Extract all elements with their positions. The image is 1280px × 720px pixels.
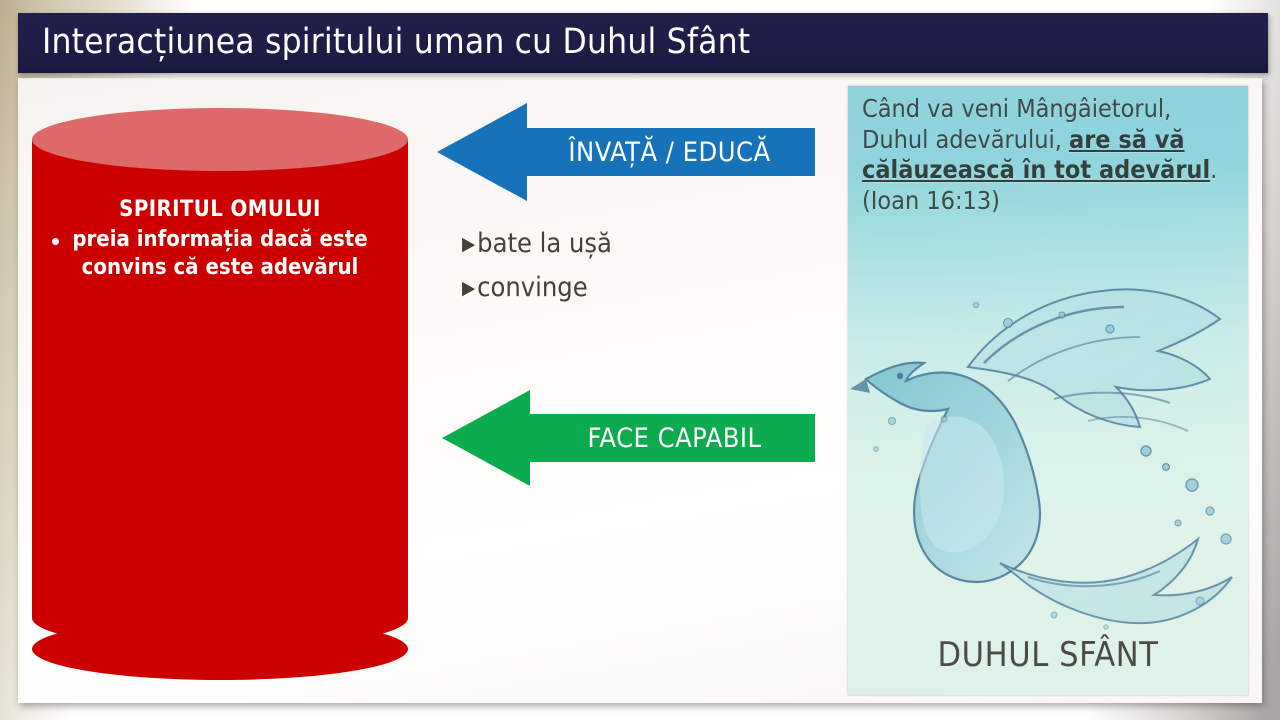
arrow-invata-educa-label: ÎNVAȚĂ / EDUCĂ — [532, 103, 807, 201]
verse-reference: (Ioan 16:13) — [862, 186, 1230, 217]
bible-verse-text: Când va veni Mângâietorul, Duhul adevăru… — [862, 94, 1230, 216]
photo-caption: DUHUL SFÂNT — [848, 635, 1248, 675]
verse-part-2: . — [1210, 155, 1217, 184]
page-title: Interacțiunea spiritului uman cu Duhul S… — [42, 25, 750, 60]
cylinder-text-block: SPIRITUL OMULUI preia informația dacă es… — [44, 196, 396, 282]
middle-bullet-list: ▶ bate la ușă ▶ convinge — [462, 222, 792, 309]
triangle-bullet-icon: ▶ — [462, 235, 475, 254]
arrow-face-capabil[interactable]: FACE CAPABIL — [442, 390, 815, 486]
arrow-invata-educa[interactable]: ÎNVAȚĂ / EDUCĂ — [437, 103, 815, 201]
cylinder-bullet-text: preia informația dacă este convins că es… — [54, 226, 386, 282]
list-item-label: bate la ușă — [477, 222, 612, 266]
cylinder-bullet-row: preia informația dacă este convins că es… — [44, 226, 396, 282]
list-item-label: convinge — [477, 266, 588, 310]
water-dove-icon — [848, 271, 1248, 651]
cylinder-heading: SPIRITUL OMULUI — [44, 196, 396, 224]
cylinder-top-ellipse — [32, 108, 408, 171]
spirit-cylinder: SPIRITUL OMULUI preia informația dacă es… — [32, 108, 408, 680]
holy-spirit-photo-panel: Când va veni Mângâietorul, Duhul adevăru… — [848, 86, 1248, 695]
list-item: ▶ bate la ușă — [462, 222, 792, 266]
arrow-face-capabil-label: FACE CAPABIL — [542, 390, 807, 486]
list-item: ▶ convinge — [462, 266, 792, 310]
slide-root: Interacțiunea spiritului uman cu Duhul S… — [0, 0, 1280, 720]
triangle-bullet-icon: ▶ — [462, 279, 475, 298]
title-banner: Interacțiunea spiritului uman cu Duhul S… — [18, 13, 1268, 73]
